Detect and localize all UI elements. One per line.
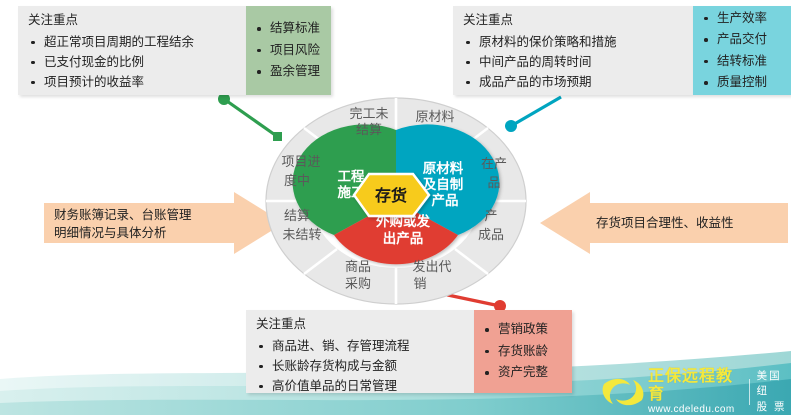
list-item: 资产完整: [482, 362, 566, 384]
panel-top-right-body: 关注重点 原材料的保价策略和措施 中间产品的周转时间 成品产品的市场预期: [453, 6, 693, 95]
outer-label-1-l1: 原材料: [415, 109, 454, 124]
outer-label-6-l2: 未结转: [282, 227, 321, 242]
outer-label-7-l1: 项目进: [281, 154, 320, 169]
segment-label-raw-l3: 产品: [432, 192, 459, 208]
outer-label-2-l2: 品: [487, 175, 500, 190]
right-arrow-callout: 存货项目合理性、收益性: [540, 192, 788, 254]
left-arrow-callout: 财务账簿记录、台账管理 明细情况与具体分析: [44, 192, 284, 254]
segment-label-raw-l2: 及自制: [423, 176, 464, 192]
list-item: 项目风险: [254, 40, 325, 62]
panel-bottom-title: 关注重点: [256, 317, 466, 333]
list-item: 质量控制: [701, 72, 785, 94]
list-item: 中间产品的周转时间: [463, 52, 685, 72]
list-item: 项目预计的收益率: [28, 72, 238, 92]
slide-canvas: 财务账簿记录、台账管理 明细情况与具体分析 存货项目合理性、收益性: [0, 0, 791, 415]
list-item: 长账龄存货构成与金额: [256, 356, 466, 376]
list-item: 产品交付: [701, 29, 785, 51]
outer-label-2-l1: 在产: [481, 156, 507, 171]
panel-bottom-body: 关注重点 商品进、销、存管理流程 长账龄存货构成与金额 高价值单品的日常管理: [246, 310, 474, 393]
logo-listing-line1: 美国纽: [757, 369, 791, 399]
panel-bottom: 关注重点 商品进、销、存管理流程 长账龄存货构成与金额 高价值单品的日常管理 营…: [246, 310, 572, 393]
panel-bottom-side-bullets: 营销政策 存货账龄 资产完整: [482, 319, 566, 384]
list-item: 成品产品的市场预期: [463, 72, 685, 92]
panel-top-right-side: 生产效率 产品交付 结转标准 质量控制: [693, 6, 791, 95]
outer-label-3-l2: 成品: [478, 227, 504, 242]
panel-top-left-title: 关注重点: [28, 13, 238, 29]
panel-top-right-bullets: 原材料的保价策略和措施 中间产品的周转时间 成品产品的市场预期: [463, 32, 685, 92]
list-item: 已支付现金的比例: [28, 52, 238, 72]
segment-label-construction-l1: 工程: [338, 169, 365, 184]
logo-listing-info: 美国纽 股 票: [757, 369, 791, 415]
segment-label-raw-l1: 原材料: [423, 160, 464, 176]
list-item: 生产效率: [701, 8, 785, 30]
segment-label-purchased-l2: 出产品: [383, 230, 424, 246]
outer-label-5-l1: 商品: [345, 259, 371, 274]
logo-divider: [749, 379, 750, 405]
list-item: 营销政策: [482, 319, 566, 341]
inventory-wheel-diagram: 工程 施工 原材料 及自制 产品 外购或发 出产品 存货 完工未 结算 原材料 …: [263, 96, 529, 306]
outer-label-0-l2: 结算: [356, 122, 382, 137]
outer-label-3-l1: 产: [484, 208, 497, 223]
logo-listing-line2: 股 票: [757, 400, 791, 415]
outer-label-4-l2: 销: [413, 276, 426, 291]
logo-url: www.cdeledu.com: [648, 404, 742, 415]
panel-top-left: 关注重点 超正常项目周期的工程结余 已支付现金的比例 项目预计的收益率 结算标准…: [18, 6, 331, 95]
list-item: 高价值单品的日常管理: [256, 376, 466, 396]
outer-label-7-l2: 度中: [284, 173, 310, 188]
outer-label-0-l1: 完工未: [349, 106, 388, 121]
logo-brand-name: 正保远程教育: [648, 368, 742, 403]
outer-label-4-l1: 发出代: [412, 259, 451, 274]
panel-top-left-side-bullets: 结算标准 项目风险 盈余管理: [254, 18, 325, 83]
outer-label-6-l1: 结算: [284, 208, 310, 223]
list-item: 商品进、销、存管理流程: [256, 336, 466, 356]
panel-bottom-bullets: 商品进、销、存管理流程 长账龄存货构成与金额 高价值单品的日常管理: [256, 336, 466, 396]
panel-top-right-title: 关注重点: [463, 13, 685, 29]
panel-top-right: 关注重点 原材料的保价策略和措施 中间产品的周转时间 成品产品的市场预期 生产效…: [453, 6, 791, 95]
outer-label-5-l2: 采购: [345, 276, 371, 291]
swirl-logo-icon: [600, 375, 646, 409]
list-item: 存货账龄: [482, 341, 566, 363]
panel-top-left-bullets: 超正常项目周期的工程结余 已支付现金的比例 项目预计的收益率: [28, 32, 238, 92]
panel-top-left-body: 关注重点 超正常项目周期的工程结余 已支付现金的比例 项目预计的收益率: [18, 6, 246, 95]
panel-top-right-side-bullets: 生产效率 产品交付 结转标准 质量控制: [701, 8, 785, 94]
right-arrow-text: 存货项目合理性、收益性: [596, 214, 734, 232]
list-item: 盈余管理: [254, 61, 325, 83]
list-item: 超正常项目周期的工程结余: [28, 32, 238, 52]
brand-logo: 正保远程教育 www.cdeledu.com 美国纽 股 票: [600, 372, 791, 412]
logo-text-block: 正保远程教育 www.cdeledu.com: [648, 368, 742, 415]
list-item: 结转标准: [701, 51, 785, 73]
panel-bottom-side: 营销政策 存货账龄 资产完整: [474, 310, 572, 393]
panel-top-left-side: 结算标准 项目风险 盈余管理: [246, 6, 331, 95]
left-arrow-text: 财务账簿记录、台账管理 明细情况与具体分析: [54, 206, 192, 242]
list-item: 原材料的保价策略和措施: [463, 32, 685, 52]
list-item: 结算标准: [254, 18, 325, 40]
wheel-center-label: 存货: [375, 186, 407, 205]
